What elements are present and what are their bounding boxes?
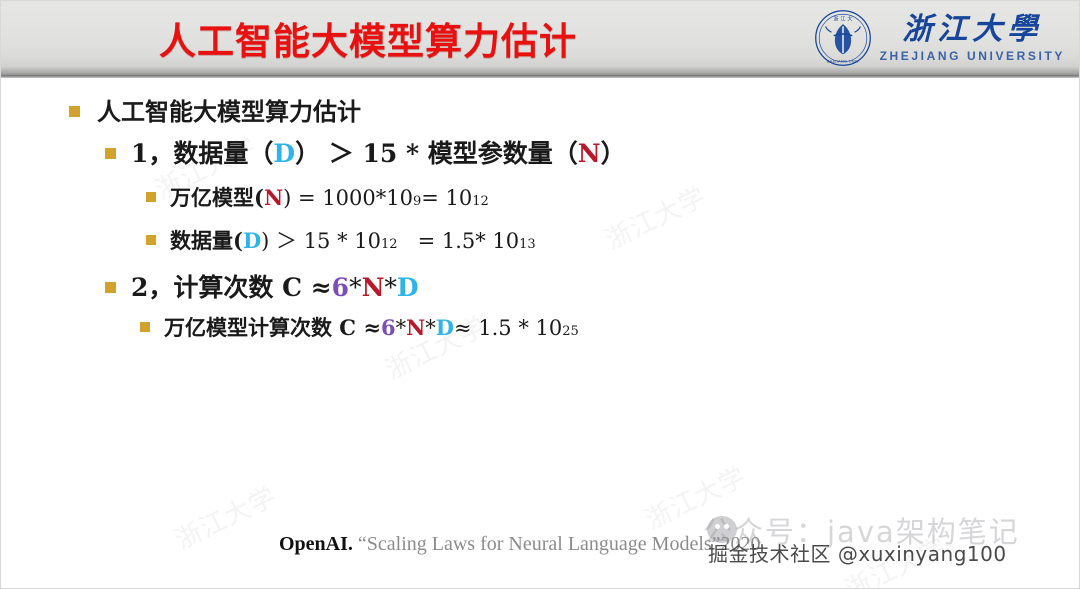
operator-multiply: * [425, 316, 436, 340]
bullet-item-2-sub-1: 万亿模型计算次数 C ≈ 6 * N * D ≈ 1.5 * 10 25 [140, 312, 579, 342]
background-watermark: 浙江大学 [838, 526, 951, 589]
symbol-D: D [397, 273, 419, 302]
bullet-item-1-sub-1: 万亿模型( N ) = 1000*10 9 = 10 12 [146, 182, 489, 212]
bullet-item-2: 2，计算次数 C ≈ 6 * N * D [105, 268, 419, 304]
bullet-marker-icon [146, 192, 156, 202]
sub2-mid1: ) ＞ 15 * 10 [261, 225, 381, 255]
logo-name-en: ZHEJIANG UNIVERSITY [880, 50, 1065, 62]
bullet-item-1-sub-2: 数据量( D ) ＞ 15 * 10 12 = 1.5* 10 13 [146, 225, 536, 255]
item1-prefix: 1，数据量（ [131, 134, 273, 170]
bullet-marker-icon [146, 235, 156, 245]
bullet-marker-icon [105, 282, 116, 293]
svg-text:浙 江 大: 浙 江 大 [833, 15, 852, 23]
symbol-N: N [406, 315, 425, 340]
sub1-prefix: 万亿模型( [170, 182, 264, 212]
item1-middle: ） ＞ 15 * 模型参数量（ [295, 134, 578, 170]
symbol-six: 6 [332, 273, 349, 302]
operator-multiply: * [384, 273, 397, 302]
symbol-D: D [243, 228, 261, 253]
citation-author: OpenAI. [279, 533, 358, 555]
symbol-N: N [578, 139, 601, 168]
sub3-prefix: 万亿模型计算次数 C ≈ [164, 312, 381, 342]
slide-canvas: 人工智能大模型算力估计 浙 江 大 ZHEJIANG UNIV 浙江大學 ZHE… [0, 0, 1080, 589]
symbol-D: D [273, 139, 295, 168]
university-logo: 浙 江 大 ZHEJIANG UNIV 浙江大學 ZHEJIANG UNIVER… [814, 7, 1065, 69]
symbol-six: 6 [381, 315, 396, 340]
logo-wordmark: 浙江大學 ZHEJIANG UNIVERSITY [880, 15, 1065, 62]
background-watermark: 浙江大学 [598, 176, 711, 257]
background-watermark: 浙江大学 [168, 476, 281, 557]
bullet-marker-icon [105, 148, 116, 159]
bullet-level1: 人工智能大模型算力估计 [69, 92, 361, 127]
bullet-level1-label: 人工智能大模型算力估计 [97, 92, 361, 127]
symbol-N: N [264, 185, 283, 210]
slide-body: 浙江大学 浙江大学 浙江大学 浙江大学 浙江大学 浙江大学 人工智能大模型算力估… [1, 78, 1080, 589]
sub2-prefix: 数据量( [170, 225, 243, 255]
item1-suffix: ） [601, 134, 626, 170]
symbol-N: N [362, 273, 385, 302]
operator-multiply: * [349, 273, 362, 302]
sub1-mid1: ) = 1000*10 [283, 186, 413, 210]
citation-title: “Scaling Laws for Neural Language Models… [358, 533, 761, 555]
svg-text:ZHEJIANG UNIV: ZHEJIANG UNIV [826, 59, 859, 63]
logo-name-cn: 浙江大學 [902, 15, 1042, 45]
bullet-marker-icon [69, 106, 80, 117]
operator-multiply: * [396, 316, 407, 340]
sub3-tail: ≈ 1.5 * 10 [454, 316, 562, 340]
page-title: 人工智能大模型算力估计 [159, 11, 577, 65]
bullet-marker-icon [140, 322, 150, 332]
zhejiang-university-seal-icon: 浙 江 大 ZHEJIANG UNIV [814, 9, 872, 67]
citation: OpenAI. “Scaling Laws for Neural Languag… [279, 533, 761, 556]
symbol-D: D [436, 315, 454, 340]
background-watermark: 浙江大学 [638, 456, 751, 537]
sub1-mid2: = 10 [421, 186, 472, 210]
bullet-item-1: 1，数据量（ D ） ＞ 15 * 模型参数量（ N ） [105, 134, 626, 170]
sub2-mid2: = 1.5* 10 [418, 229, 520, 253]
item2-prefix: 2，计算次数 C ≈ [131, 268, 332, 304]
